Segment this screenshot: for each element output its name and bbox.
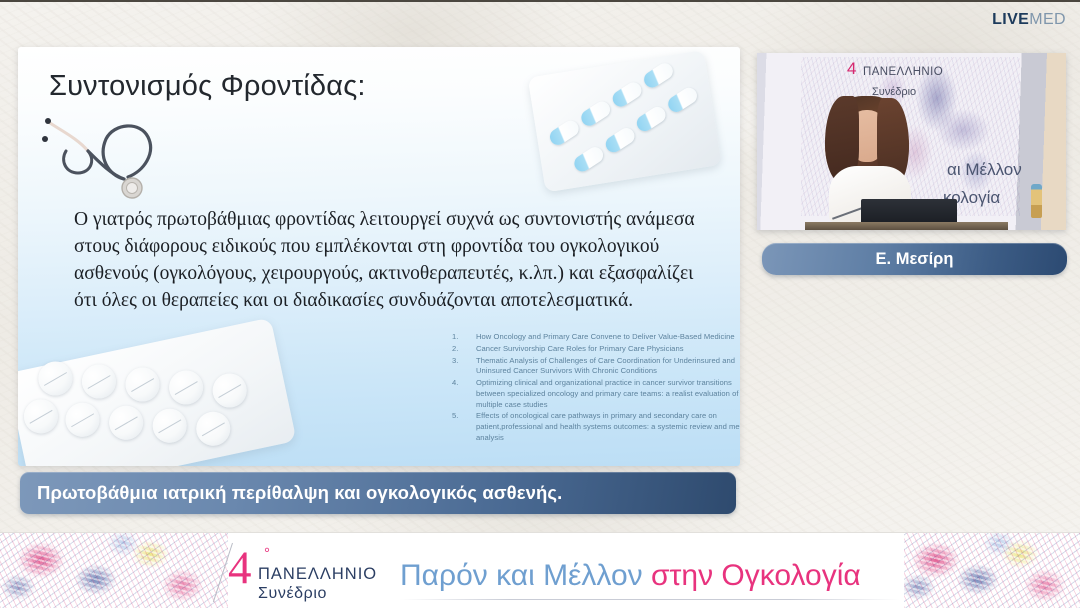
reference-number: 5. (452, 411, 458, 422)
list-item: 4. Optimizing clinical and organizationa… (443, 378, 740, 410)
reference-list: 1. How Oncology and Primary Care Convene… (443, 332, 740, 445)
top-border-line (0, 0, 1080, 2)
caption-text: Πρωτοβάθμια ιατρική περίθαλψη και ογκολο… (37, 482, 562, 504)
list-item: 3. Thematic Analysis of Challenges of Ca… (443, 356, 740, 378)
capsule-blister-pack-image (516, 47, 735, 208)
footer-degree-symbol: ° (264, 545, 270, 562)
footer-title-first-part: Παρόν και Μέλλον (400, 559, 651, 592)
tablet-blister-pack-image (18, 300, 314, 466)
reference-number: 2. (452, 344, 458, 355)
banner-panellinio-text: ΠΑΝΕΛΛΗΝΙΟ (863, 66, 943, 78)
footer-conference-title: Παρόν και Μέλλον στην Ογκολογία (400, 559, 861, 593)
podium-desk (805, 222, 1008, 230)
speaker-name-text: Ε. Μεσίρη (876, 250, 954, 269)
broadcast-page: LIVEMED (0, 0, 1080, 608)
reference-text: Thematic Analysis of Challenges of Care … (476, 356, 735, 376)
slide-body-paragraph: Ο γιατρός πρωτοβάθμιας φροντίδας λειτουρ… (74, 207, 714, 315)
reference-number: 4. (452, 378, 458, 389)
slide-title: Συντονισμός Φροντίδας: (49, 70, 366, 103)
laptop-screen (861, 199, 957, 224)
footer-title-second-part: στην Ογκολογία (651, 559, 861, 592)
banner-number: 4 (847, 59, 856, 79)
list-item: 2. Cancer Survivorship Care Roles for Pr… (443, 344, 740, 355)
footer-splatter-right (904, 533, 1080, 608)
logo-live-text: LIVE (992, 11, 1029, 28)
blister-sheet (528, 50, 722, 192)
stethoscope-icon (36, 109, 186, 214)
reference-text: Cancer Survivorship Care Roles for Prima… (476, 344, 684, 353)
reference-number: 3. (452, 356, 458, 367)
presentation-slide: Συντονισμός Φροντίδας: Ο γιατρός πρωτοβά… (18, 47, 740, 466)
logo-med-text: MED (1029, 11, 1066, 28)
footer-splatter-left (0, 533, 228, 608)
footer-synedrio-label: Συνέδριο (258, 585, 327, 603)
water-bottle (1031, 184, 1042, 218)
footer-underline-rule (400, 599, 900, 600)
list-item: 5. Effects of oncological care pathways … (443, 411, 740, 443)
speaker-video-feed[interactable]: 4 ΠΑΝΕΛΛΗΝΙΟ Συνέδριο αι Μέλλον κολογία (757, 53, 1066, 230)
banner-mellon-text: αι Μέλλον (947, 160, 1022, 180)
reference-number: 1. (452, 332, 458, 343)
reference-text: Effects of oncological care pathways in … (476, 411, 740, 442)
livemed-logo: LIVEMED (992, 11, 1066, 29)
conference-footer: 4 ° ΠΑΝΕΛΛΗΝΙΟ Συνέδριο Παρόν και Μέλλον… (0, 532, 1080, 608)
footer-panellinio-label: ΠΑΝΕΛΛΗΝΙΟ (258, 565, 377, 584)
speaker-name-badge: Ε. Μεσίρη (762, 243, 1067, 275)
footer-edition-number: 4 (228, 545, 252, 592)
presentation-caption-bar: Πρωτοβάθμια ιατρική περίθαλψη και ογκολο… (20, 472, 736, 514)
reference-text: Optimizing clinical and organizational p… (476, 378, 739, 409)
reference-text: How Oncology and Primary Care Convene to… (476, 332, 735, 341)
list-item: 1. How Oncology and Primary Care Convene… (443, 332, 740, 343)
